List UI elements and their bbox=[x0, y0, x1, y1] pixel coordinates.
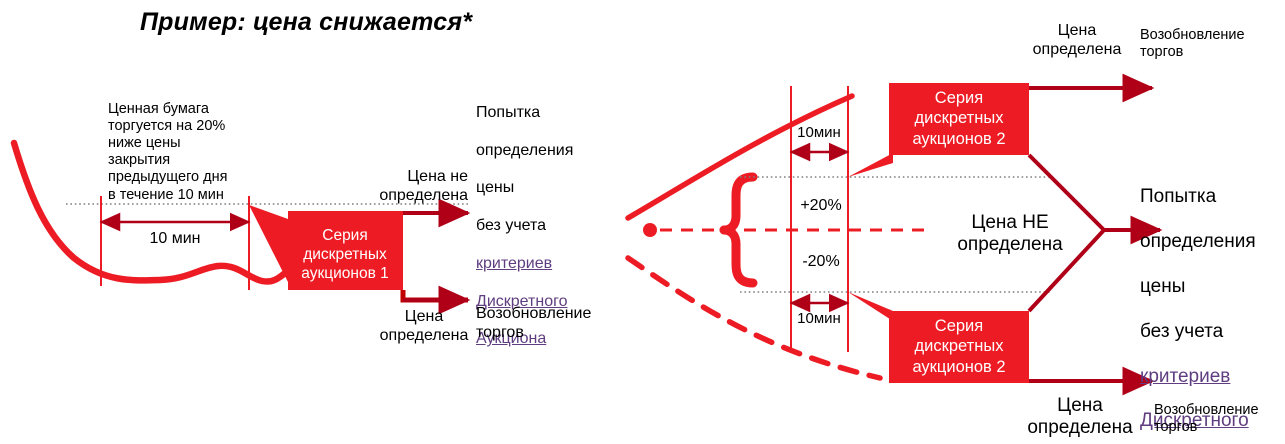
link-kriteriev[interactable]: критериев bbox=[1140, 366, 1256, 388]
left-note-text: Ценная бумага торгуется на 20% ниже цены… bbox=[108, 101, 227, 204]
result-line-0: Попытка bbox=[476, 104, 573, 123]
right-bottom-branch-outcome: Цена определена bbox=[1015, 395, 1145, 440]
left-branch-up-outcome: Цена не определена bbox=[358, 168, 468, 206]
link-kriteriev[interactable]: критериев bbox=[476, 255, 573, 274]
right-band-upper-label: +20% bbox=[790, 197, 852, 215]
result-line-0: Попытка bbox=[1140, 186, 1256, 208]
slide-canvas: Пример: цена снижается* Ценная бумага то… bbox=[0, 0, 1285, 444]
right-middle-branch-outcome: Цена НЕ определена bbox=[940, 212, 1080, 257]
result-line-1: определения bbox=[476, 142, 573, 161]
right-bottom-branch-result: Возобновление торгов bbox=[1154, 402, 1259, 436]
right-duration-bottom-label: 10мин bbox=[788, 310, 850, 327]
right-band-lower-label: -20% bbox=[790, 253, 852, 271]
right-range-brace bbox=[724, 177, 753, 283]
result-line-2: цены bbox=[1140, 276, 1256, 298]
right-duration-top-label: 10мин bbox=[788, 124, 850, 141]
right-origin-dot bbox=[643, 223, 657, 237]
result-line-3: без учета bbox=[476, 217, 573, 236]
result-line-1: определения bbox=[1140, 231, 1256, 253]
right-top-branch-result: Возобновление торгов bbox=[1140, 27, 1245, 61]
right-top-branch-outcome: Цена определена bbox=[1022, 22, 1132, 60]
page-title: Пример: цена снижается* bbox=[140, 8, 472, 38]
left-branch-down-stem bbox=[403, 290, 468, 300]
left-auction-box-label: Серия дискретных аукционов 1 bbox=[289, 226, 401, 284]
left-duration-label: 10 мин bbox=[101, 230, 249, 248]
right-auction-box-top-label: Серия дискретных аукционов 2 bbox=[889, 88, 1029, 149]
diagram-vector-layer bbox=[0, 0, 1285, 444]
right-auction-box-bottom-label: Серия дискретных аукционов 2 bbox=[889, 316, 1029, 377]
result-line-2: цены bbox=[476, 179, 573, 198]
left-branch-down-result: Возобновление торгов bbox=[476, 305, 591, 343]
result-line-3: без учета bbox=[1140, 321, 1256, 343]
left-branch-down-outcome: Цена определена bbox=[378, 308, 470, 346]
